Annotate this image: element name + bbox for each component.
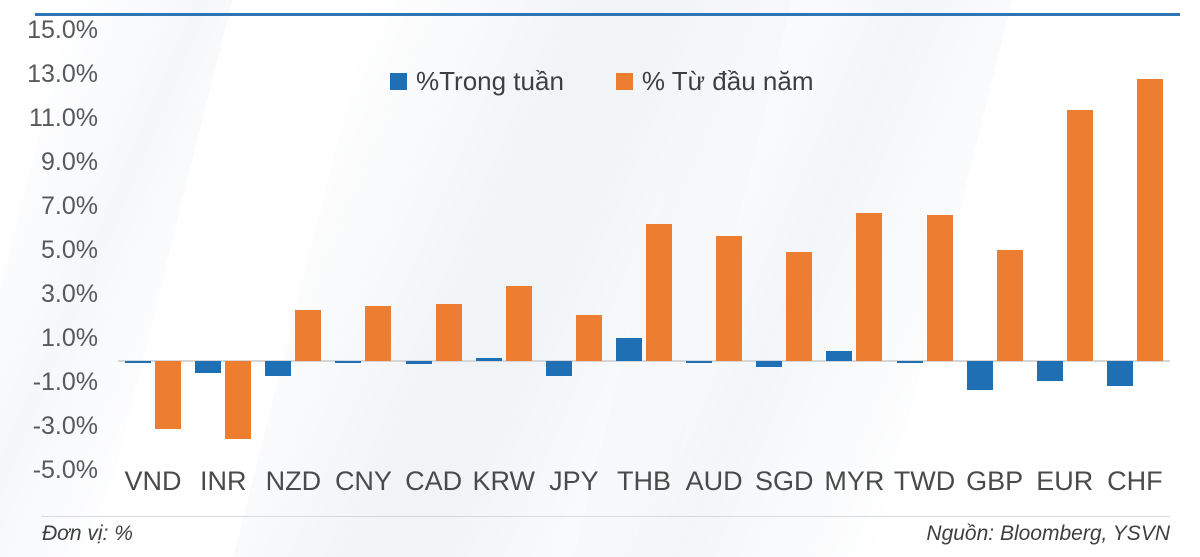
y-axis-tick-label: 1.0% [41,326,98,351]
x-axis-tick-label: VND [118,468,188,495]
footer-divider-rule [42,516,1170,517]
bar-week [125,361,151,363]
legend-label: % Từ đầu năm [642,68,814,94]
legend-swatch-ytd-icon [616,73,633,90]
y-axis-tick-label: 5.0% [41,238,98,263]
x-axis-tick-label: EUR [1030,468,1100,495]
chart-legend: %Trong tuần% Từ đầu năm [390,68,813,94]
bar-week [686,361,712,363]
bar-ytd [576,315,602,361]
y-axis-tick-label: 7.0% [41,194,98,219]
bar-ytd [506,286,532,361]
source-label: Nguồn: Bloomberg, YSVN [926,522,1170,546]
x-axis-tick-label: KRW [469,468,539,495]
bar-ytd [225,361,251,439]
y-axis-tick-label: -5.0% [33,458,98,483]
chart-page: 15.0%13.0%11.0%9.0%7.0%5.0%3.0%1.0%-1.0%… [0,0,1200,557]
legend-label: %Trong tuần [416,68,564,94]
legend-item[interactable]: % Từ đầu năm [616,68,814,94]
bar-ytd [646,224,672,362]
bar-ytd [155,361,181,429]
bar-ytd [436,304,462,361]
y-axis-tick-label: 11.0% [29,106,98,131]
bar-week [616,338,642,361]
bar-week [476,358,502,361]
y-axis-tick-label: 15.0% [27,18,98,43]
bar-group [328,0,398,480]
legend-swatch-week-icon [390,73,407,90]
x-axis-tick-label: SGD [749,468,819,495]
bar-week [406,361,432,364]
x-axis-tick-label: THB [609,468,679,495]
x-axis-tick-label: JPY [539,468,609,495]
y-axis-tick-label: -3.0% [33,414,98,439]
bar-week [897,361,923,363]
bar-week [265,361,291,376]
y-axis: 15.0%13.0%11.0%9.0%7.0%5.0%3.0%1.0%-1.0%… [0,0,110,480]
unit-label: Đơn vị: % [42,522,133,546]
bar-week [335,361,361,363]
bar-ytd [1067,110,1093,361]
bar-week [756,361,782,367]
x-axis: VNDINRNZDCNYCADKRWJPYTHBAUDSGDMYRTWDGBPE… [118,468,1170,508]
y-axis-tick-label: -1.0% [33,370,98,395]
x-axis-tick-label: MYR [819,468,889,495]
bar-week [826,351,852,361]
x-axis-tick-label: CHF [1100,468,1170,495]
bar-group [188,0,258,480]
bar-ytd [997,250,1023,361]
bar-week [1037,361,1063,381]
bar-week [195,361,221,373]
bar-group [889,0,959,480]
bar-week [546,361,572,376]
bar-ytd [716,236,742,361]
y-axis-tick-label: 9.0% [41,150,98,175]
bar-ytd [365,306,391,361]
bar-group [1100,0,1170,480]
x-axis-tick-label: CNY [328,468,398,495]
chart-footer: Đơn vị: % Nguồn: Bloomberg, YSVN [42,522,1170,554]
bar-group [960,0,1030,480]
legend-item[interactable]: %Trong tuần [390,68,564,94]
bar-group [1030,0,1100,480]
x-axis-tick-label: GBP [960,468,1030,495]
y-axis-tick-label: 3.0% [41,282,98,307]
bar-week [1107,361,1133,386]
x-axis-tick-label: TWD [889,468,959,495]
bar-ytd [856,213,882,362]
bar-ytd [786,252,812,361]
bar-group [819,0,889,480]
bar-ytd [1137,79,1163,361]
bar-ytd [927,215,953,361]
x-axis-tick-label: AUD [679,468,749,495]
x-axis-tick-label: CAD [399,468,469,495]
y-axis-tick-label: 13.0% [27,62,98,87]
bar-group [258,0,328,480]
bar-week [967,361,993,390]
x-axis-tick-label: NZD [258,468,328,495]
x-axis-tick-label: INR [188,468,258,495]
bar-ytd [295,310,321,361]
bar-group [118,0,188,480]
